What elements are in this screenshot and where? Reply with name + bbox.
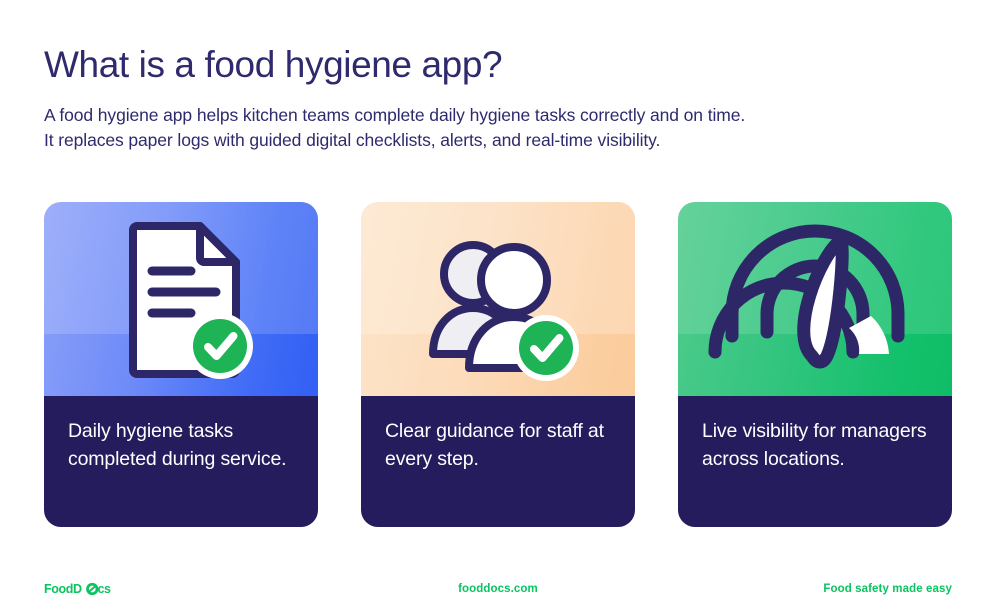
card-caption-text: Daily hygiene tasks completed during ser… — [68, 418, 296, 473]
header: What is a food hygiene app? A food hygie… — [44, 44, 974, 153]
card-visual-green — [678, 202, 952, 396]
fooddocs-logo[interactable]: FoodD cs FoodDocs — [44, 581, 122, 597]
card-visual-peach — [361, 202, 635, 396]
page-title: What is a food hygiene app? — [44, 44, 974, 87]
card-caption-blue: Daily hygiene tasks completed during ser… — [44, 396, 318, 527]
footer: FoodD cs FoodDocs fooddocs.com Food safe… — [0, 563, 996, 615]
page-subtitle: A food hygiene app helps kitchen teams c… — [44, 103, 974, 154]
subtitle-line-1: A food hygiene app helps kitchen teams c… — [44, 103, 974, 128]
feature-card-row: Daily hygiene tasks completed during ser… — [44, 202, 952, 527]
card-caption-green: Live visibility for managers across loca… — [678, 396, 952, 527]
gauge-speedometer-icon — [678, 202, 952, 396]
card-caption-text: Clear guidance for staff at every step. — [385, 418, 613, 473]
document-check-icon — [44, 202, 318, 396]
people-check-icon — [361, 202, 635, 396]
svg-text:FoodD: FoodD — [44, 582, 82, 596]
fooddocs-wordmark-icon: FoodD cs — [44, 581, 122, 597]
svg-text:cs: cs — [98, 582, 112, 596]
feature-card-clear-guidance[interactable]: Clear guidance for staff at every step. — [361, 202, 635, 527]
subtitle-line-2: It replaces paper logs with guided digit… — [44, 128, 974, 153]
card-caption-text: Live visibility for managers across loca… — [702, 418, 930, 473]
feature-card-live-visibility[interactable]: Live visibility for managers across loca… — [678, 202, 952, 527]
feature-card-daily-hygiene-tasks[interactable]: Daily hygiene tasks completed during ser… — [44, 202, 318, 527]
card-caption-peach: Clear guidance for staff at every step. — [361, 396, 635, 527]
slide-canvas: What is a food hygiene app? A food hygie… — [0, 0, 996, 615]
card-visual-blue — [44, 202, 318, 396]
footer-tagline: Food safety made easy — [823, 583, 952, 595]
